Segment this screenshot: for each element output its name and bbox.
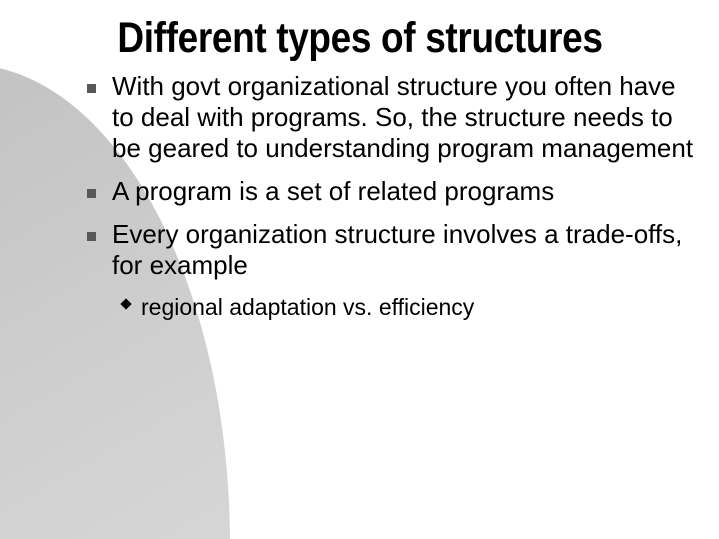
sub-bullet-list: regional adaptation vs. efficiency <box>84 293 702 321</box>
bullet-item-1-text: With govt organizational structure you o… <box>112 71 693 163</box>
sub-bullet-item-1-text: regional adaptation vs. efficiency <box>141 294 474 320</box>
bullet-item-2: A program is a set of related programs <box>84 176 702 207</box>
square-bullet-icon <box>87 84 96 93</box>
bullet-item-3-text: Every organization structure involves a … <box>112 219 682 280</box>
bullet-item-1: With govt organizational structure you o… <box>84 71 702 164</box>
diamond-bullet-icon <box>120 298 131 309</box>
bullet-item-3: Every organization structure involves a … <box>84 219 702 281</box>
sub-bullet-item-1: regional adaptation vs. efficiency <box>84 293 702 321</box>
slide-body-content: With govt organizational structure you o… <box>84 71 702 321</box>
presentation-slide: Different types of structures With govt … <box>0 0 719 539</box>
slide-title: Different types of structures <box>85 14 635 62</box>
bullet-item-2-text: A program is a set of related programs <box>112 176 554 206</box>
square-bullet-icon <box>87 189 96 198</box>
square-bullet-icon <box>87 232 96 241</box>
